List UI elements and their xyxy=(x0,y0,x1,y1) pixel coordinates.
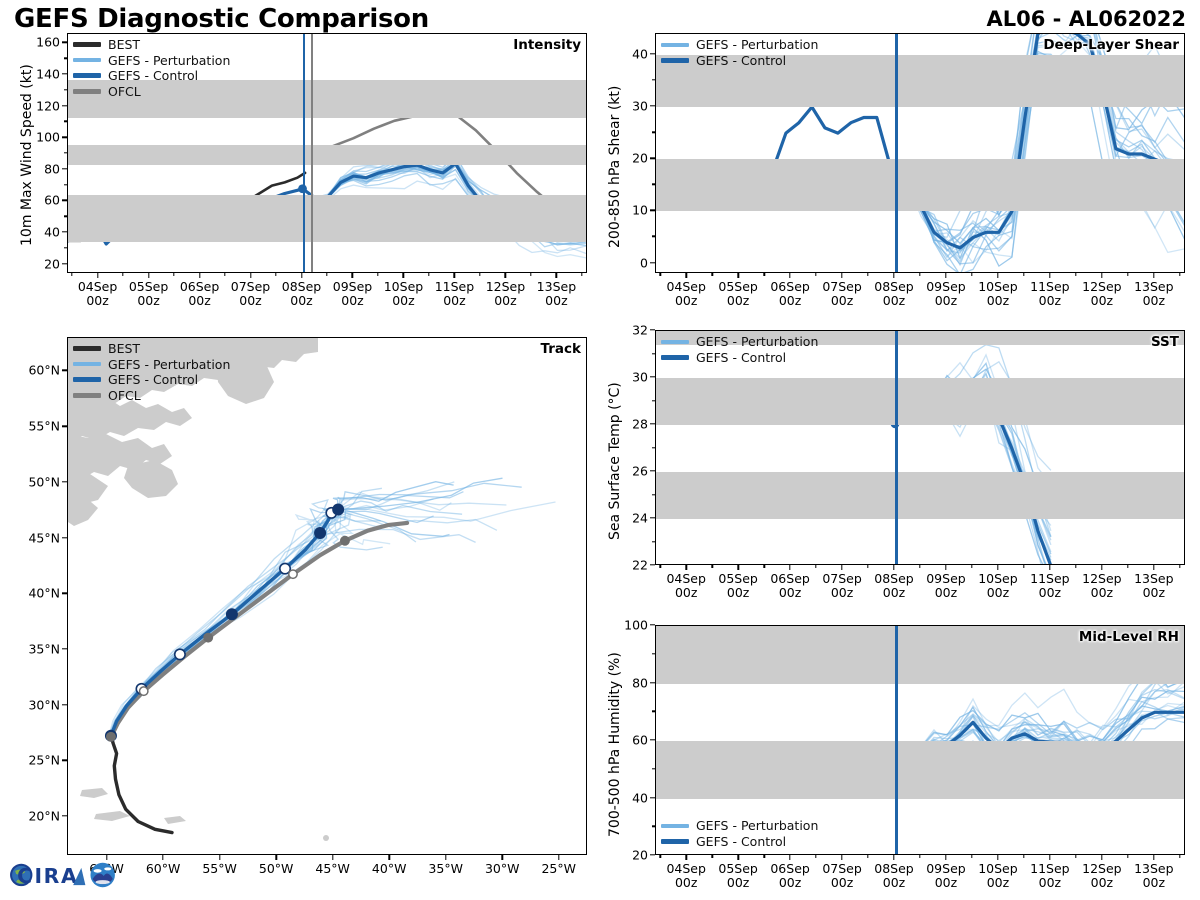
x-tick-hour: 00z xyxy=(137,293,159,308)
x-axis-minor-tick xyxy=(428,273,429,276)
legend-swatch-control xyxy=(661,58,689,63)
x-tick-date: 09Sep xyxy=(333,279,372,294)
x-tick-date: 10Sep xyxy=(978,279,1017,294)
legend-swatch-perturbation xyxy=(661,340,689,344)
track-plot-area xyxy=(67,337,587,855)
latitude-tick-mark xyxy=(62,648,67,649)
x-axis-tick-label: 06Sep00z xyxy=(180,280,219,309)
legend-item-best: BEST xyxy=(73,341,230,357)
x-tick-date: 12Sep xyxy=(1082,861,1121,876)
x-axis-minor-tick xyxy=(971,855,972,858)
x-axis-tick-mark xyxy=(250,273,251,278)
legend-swatch-control xyxy=(661,839,689,844)
x-axis-tick-label: 06Sep00z xyxy=(770,280,809,309)
sst-panel-label: SST xyxy=(1151,334,1179,350)
x-axis-minor-tick xyxy=(1075,565,1076,568)
longitude-tick-label: 50°W xyxy=(259,862,294,876)
x-tick-date: 05Sep xyxy=(718,279,757,294)
x-axis-tick-mark xyxy=(893,855,894,860)
y-axis-tick-mark xyxy=(650,329,655,330)
x-axis-tick-mark xyxy=(789,273,790,278)
longitude-tick-mark xyxy=(558,855,559,860)
x-axis-tick-label: 10Sep00z xyxy=(978,862,1017,891)
latitude-tick-mark xyxy=(62,760,67,761)
x-tick-date: 08Sep xyxy=(282,279,321,294)
x-axis-minor-tick xyxy=(815,273,816,276)
x-tick-date: 13Sep xyxy=(537,279,576,294)
x-tick-hour: 00z xyxy=(290,293,312,308)
cira-logo-icon: C I R A xyxy=(8,856,120,896)
y-axis-tick-label: 80 xyxy=(632,675,648,690)
page-title: GEFS Diagnostic Comparison xyxy=(14,4,429,34)
x-tick-date: 13Sep xyxy=(1134,279,1173,294)
x-axis-tick-mark xyxy=(1153,855,1154,860)
x-tick-hour: 00z xyxy=(1143,875,1165,890)
latitude-tick-mark xyxy=(62,704,67,705)
x-axis-tick-label: 10Sep00z xyxy=(384,280,423,309)
y-axis-tick-mark xyxy=(650,376,655,377)
x-axis-tick-mark xyxy=(1101,273,1102,278)
x-axis-tick-mark xyxy=(1049,855,1050,860)
y-axis-tick-label: 160 xyxy=(36,35,60,50)
intensity-y-axis-label: 10m Max Wind Speed (kt) xyxy=(19,64,35,246)
y-axis-tick-mark xyxy=(650,682,655,683)
x-tick-date: 07Sep xyxy=(822,279,861,294)
x-axis-tick-mark xyxy=(997,273,998,278)
legend-label-perturbation: GEFS - Perturbation xyxy=(696,818,818,833)
x-tick-hour: 00z xyxy=(935,875,957,890)
sst-plot-area xyxy=(655,330,1185,565)
legend-item-perturbation: GEFS - Perturbation xyxy=(661,334,818,350)
latitude-tick-mark xyxy=(62,593,67,594)
x-tick-hour: 00z xyxy=(727,585,749,600)
x-axis-minor-tick xyxy=(581,273,582,276)
shear-legend: GEFS - Perturbation GEFS - Control xyxy=(661,37,818,68)
legend-item-control: GEFS - Control xyxy=(661,53,818,69)
x-tick-hour: 00z xyxy=(392,293,414,308)
longitude-tick-label: 25°W xyxy=(541,862,576,876)
x-tick-date: 05Sep xyxy=(718,861,757,876)
x-tick-hour: 00z xyxy=(675,585,697,600)
x-tick-hour: 00z xyxy=(1039,293,1061,308)
y-axis-tick-mark xyxy=(650,517,655,518)
x-axis-tick-mark xyxy=(997,565,998,570)
legend-swatch-perturbation xyxy=(661,43,689,47)
y-axis-tick-label: 24 xyxy=(632,511,648,526)
x-axis-minor-tick xyxy=(275,273,276,276)
x-axis-minor-tick xyxy=(711,855,712,858)
shaded-band xyxy=(68,195,586,242)
x-axis-tick-mark xyxy=(685,273,686,278)
x-axis-minor-tick xyxy=(122,273,123,276)
x-axis-tick-label: 04Sep00z xyxy=(666,862,705,891)
x-axis-tick-label: 08Sep00z xyxy=(874,572,913,601)
intensity-panel-label: Intensity xyxy=(513,37,581,53)
x-axis-tick-label: 04Sep00z xyxy=(78,280,117,309)
x-axis-tick-mark xyxy=(556,273,557,278)
storm-identifier: AL06 - AL062022 xyxy=(987,7,1187,31)
y-axis-tick-mark xyxy=(62,42,67,43)
x-axis-tick-mark xyxy=(685,565,686,570)
latitude-tick-label: 50°N xyxy=(28,474,60,489)
x-axis-tick-mark xyxy=(737,855,738,860)
x-tick-hour: 00z xyxy=(545,293,567,308)
x-axis-tick-label: 11Sep00z xyxy=(1030,280,1069,309)
shaded-band xyxy=(656,472,1184,519)
shaded-band xyxy=(656,159,1184,211)
x-tick-hour: 00z xyxy=(883,875,905,890)
panel-intensity[interactable]: Intensity BEST GEFS - Perturbation GEFS … xyxy=(67,33,587,273)
x-axis-tick-mark xyxy=(737,565,738,570)
y-axis-minor-tick xyxy=(652,236,655,237)
longitude-tick-label: 60°W xyxy=(146,862,181,876)
x-tick-date: 11Sep xyxy=(1030,571,1069,586)
x-axis-minor-tick xyxy=(659,565,660,568)
y-axis-tick-mark xyxy=(650,210,655,211)
latitude-tick-label: 25°N xyxy=(28,753,60,768)
latitude-tick-mark xyxy=(62,481,67,482)
x-tick-hour: 00z xyxy=(1091,585,1113,600)
x-tick-date: 08Sep xyxy=(874,861,913,876)
x-axis-tick-label: 06Sep00z xyxy=(770,862,809,891)
x-axis-tick-label: 05Sep00z xyxy=(718,280,757,309)
figure-root: GEFS Diagnostic Comparison AL06 - AL0620… xyxy=(0,0,1200,900)
x-tick-hour: 00z xyxy=(883,585,905,600)
legend-label-perturbation: GEFS - Perturbation xyxy=(108,53,230,68)
x-axis-minor-tick xyxy=(919,565,920,568)
y-axis-minor-tick xyxy=(652,494,655,495)
x-tick-date: 05Sep xyxy=(129,279,168,294)
x-axis-tick-label: 05Sep00z xyxy=(718,572,757,601)
x-axis-tick-label: 12Sep00z xyxy=(1082,572,1121,601)
longitude-tick-label: 30°W xyxy=(485,862,520,876)
y-axis-minor-tick xyxy=(652,768,655,769)
y-axis-minor-tick xyxy=(652,711,655,712)
x-axis-tick-label: 07Sep00z xyxy=(231,280,270,309)
track-legend: BEST GEFS - Perturbation GEFS - Control … xyxy=(73,341,230,403)
x-axis-tick-mark xyxy=(841,565,842,570)
y-axis-minor-tick xyxy=(652,184,655,185)
svg-text:C: C xyxy=(17,864,32,888)
x-tick-date: 08Sep xyxy=(874,571,913,586)
x-tick-date: 12Sep xyxy=(1082,571,1121,586)
x-tick-date: 13Sep xyxy=(1134,571,1173,586)
x-axis-tick-label: 04Sep00z xyxy=(666,572,705,601)
x-axis-tick-mark xyxy=(893,565,894,570)
x-axis-tick-mark xyxy=(1101,855,1102,860)
x-tick-date: 06Sep xyxy=(770,861,809,876)
x-tick-date: 04Sep xyxy=(666,861,705,876)
x-axis-minor-tick xyxy=(1127,855,1128,858)
x-axis-tick-label: 13Sep00z xyxy=(1134,862,1173,891)
x-tick-date: 04Sep xyxy=(666,571,705,586)
shaded-band xyxy=(656,741,1184,799)
x-axis-minor-tick xyxy=(971,273,972,276)
x-axis-minor-tick xyxy=(763,273,764,276)
latitude-tick-label: 40°N xyxy=(28,586,60,601)
latitude-tick-label: 35°N xyxy=(28,641,60,656)
y-axis-tick-mark xyxy=(650,797,655,798)
legend-swatch-control xyxy=(661,355,689,360)
x-axis-minor-tick xyxy=(815,855,816,858)
shear-plot-area xyxy=(655,33,1185,273)
x-tick-hour: 00z xyxy=(987,585,1009,600)
x-axis-minor-tick xyxy=(711,565,712,568)
legend-label-control: GEFS - Control xyxy=(696,53,786,68)
x-tick-hour: 00z xyxy=(239,293,261,308)
y-axis-tick-mark xyxy=(62,168,67,169)
legend-item-perturbation: GEFS - Perturbation xyxy=(661,37,818,53)
panel-sst[interactable]: SST GEFS - Perturbation GEFS - Control 2… xyxy=(655,330,1185,565)
x-tick-date: 04Sep xyxy=(666,279,705,294)
x-axis-tick-mark xyxy=(1049,565,1050,570)
x-axis-tick-label: 13Sep00z xyxy=(1134,280,1173,309)
x-axis-tick-label: 10Sep00z xyxy=(978,280,1017,309)
longitude-tick-mark xyxy=(445,855,446,860)
y-axis-minor-tick xyxy=(652,826,655,827)
x-axis-tick-label: 11Sep00z xyxy=(435,280,474,309)
x-axis-tick-label: 08Sep00z xyxy=(282,280,321,309)
x-axis-minor-tick xyxy=(867,273,868,276)
x-axis-tick-mark xyxy=(148,273,149,278)
legend-item-perturbation: GEFS - Perturbation xyxy=(661,818,818,834)
x-axis-minor-tick xyxy=(1023,273,1024,276)
latitude-tick-label: 60°N xyxy=(28,363,60,378)
y-axis-tick-mark xyxy=(62,105,67,106)
x-axis-minor-tick xyxy=(971,565,972,568)
x-axis-tick-label: 07Sep00z xyxy=(822,862,861,891)
sst-series-lines xyxy=(656,331,1185,565)
x-tick-hour: 00z xyxy=(779,293,801,308)
sst-y-axis-label: Sea Surface Temp (°C) xyxy=(607,382,623,540)
x-axis-tick-label: 05Sep00z xyxy=(718,862,757,891)
x-tick-date: 04Sep xyxy=(78,279,117,294)
x-axis-minor-tick xyxy=(1179,855,1180,858)
legend-label-ofcl: OFCL xyxy=(108,84,141,99)
x-tick-date: 09Sep xyxy=(926,571,965,586)
x-tick-date: 11Sep xyxy=(435,279,474,294)
x-tick-hour: 00z xyxy=(831,293,853,308)
x-axis-tick-label: 13Sep00z xyxy=(1134,572,1173,601)
x-tick-date: 10Sep xyxy=(978,861,1017,876)
x-tick-hour: 00z xyxy=(727,875,749,890)
x-axis-tick-label: 12Sep00z xyxy=(1082,280,1121,309)
x-tick-hour: 00z xyxy=(494,293,516,308)
x-axis-minor-tick xyxy=(530,273,531,276)
x-axis-tick-mark xyxy=(841,273,842,278)
x-axis-tick-label: 11Sep00z xyxy=(1030,572,1069,601)
legend-item-perturbation: GEFS - Perturbation xyxy=(73,53,230,69)
legend-swatch-best xyxy=(73,346,101,351)
intensity-init-time-line xyxy=(303,34,306,272)
x-tick-hour: 00z xyxy=(188,293,210,308)
x-tick-hour: 00z xyxy=(86,293,108,308)
y-axis-tick-mark xyxy=(650,105,655,106)
x-tick-hour: 00z xyxy=(1091,875,1113,890)
legend-swatch-control xyxy=(73,73,101,78)
x-axis-tick-label: 09Sep00z xyxy=(926,572,965,601)
x-axis-tick-mark xyxy=(945,565,946,570)
x-tick-date: 05Sep xyxy=(718,571,757,586)
x-axis-tick-label: 11Sep00z xyxy=(1030,862,1069,891)
legend-item-control: GEFS - Control xyxy=(661,834,818,850)
x-tick-hour: 00z xyxy=(987,293,1009,308)
legend-item-control: GEFS - Control xyxy=(661,350,818,366)
legend-label-control: GEFS - Control xyxy=(696,350,786,365)
x-axis-tick-label: 13Sep00z xyxy=(537,280,576,309)
latitude-tick-mark xyxy=(62,815,67,816)
y-axis-tick-mark xyxy=(62,231,67,232)
x-axis-tick-mark xyxy=(841,855,842,860)
y-axis-tick-mark xyxy=(62,137,67,138)
y-axis-tick-label: 20 xyxy=(632,848,648,863)
legend-label-control: GEFS - Control xyxy=(108,372,198,387)
svg-text:I: I xyxy=(34,864,42,888)
x-axis-tick-label: 06Sep00z xyxy=(770,572,809,601)
legend-label-best: BEST xyxy=(108,341,140,356)
x-axis-minor-tick xyxy=(1023,855,1024,858)
x-axis-minor-tick xyxy=(71,273,72,276)
x-axis-minor-tick xyxy=(1023,565,1024,568)
y-axis-tick-mark xyxy=(650,624,655,625)
x-tick-date: 09Sep xyxy=(926,279,965,294)
x-tick-date: 10Sep xyxy=(384,279,423,294)
legend-swatch-best xyxy=(73,42,101,47)
y-axis-tick-mark xyxy=(650,158,655,159)
latitude-tick-label: 30°N xyxy=(28,697,60,712)
longitude-tick-mark xyxy=(275,855,276,860)
y-axis-tick-label: 0 xyxy=(640,255,648,270)
track-basemap xyxy=(68,338,587,855)
x-tick-hour: 00z xyxy=(675,293,697,308)
legend-label-perturbation: GEFS - Perturbation xyxy=(108,357,230,372)
legend-label-control: GEFS - Control xyxy=(108,68,198,83)
y-axis-tick-label: 30 xyxy=(632,99,648,114)
intensity-ofcl-init-line xyxy=(311,34,313,272)
sst-init-time-line xyxy=(895,331,898,564)
legend-item-control: GEFS - Control xyxy=(73,372,230,388)
y-axis-minor-tick xyxy=(652,447,655,448)
x-axis-minor-tick xyxy=(1179,273,1180,276)
x-tick-hour: 00z xyxy=(1039,585,1061,600)
shear-panel-label: Deep-Layer Shear xyxy=(1043,37,1179,53)
panel-shear[interactable]: Deep-Layer Shear GEFS - Perturbation GEF… xyxy=(655,33,1185,273)
legend-swatch-perturbation xyxy=(73,58,101,62)
longitude-tick-mark xyxy=(219,855,220,860)
x-tick-hour: 00z xyxy=(1039,875,1061,890)
x-tick-date: 10Sep xyxy=(978,571,1017,586)
latitude-tick-mark xyxy=(62,425,67,426)
legend-item-control: GEFS - Control xyxy=(73,68,230,84)
x-axis-tick-mark xyxy=(1101,565,1102,570)
y-axis-tick-label: 20 xyxy=(632,151,648,166)
panel-rh[interactable]: Mid-Level RH GEFS - Perturbation GEFS - … xyxy=(655,625,1185,855)
x-tick-date: 06Sep xyxy=(180,279,219,294)
x-tick-date: 11Sep xyxy=(1030,861,1069,876)
y-axis-tick-label: 28 xyxy=(632,417,648,432)
x-axis-minor-tick xyxy=(1127,565,1128,568)
y-axis-tick-mark xyxy=(650,262,655,263)
longitude-tick-mark xyxy=(388,855,389,860)
y-axis-tick-label: 100 xyxy=(624,618,648,633)
longitude-tick-label: 45°W xyxy=(315,862,350,876)
x-tick-hour: 00z xyxy=(341,293,363,308)
x-axis-tick-label: 07Sep00z xyxy=(822,280,861,309)
y-axis-tick-mark xyxy=(62,73,67,74)
latitude-tick-label: 20°N xyxy=(28,809,60,824)
y-axis-tick-label: 10 xyxy=(632,203,648,218)
y-axis-tick-label: 30 xyxy=(632,370,648,385)
x-axis-minor-tick xyxy=(173,273,174,276)
x-axis-minor-tick xyxy=(326,273,327,276)
x-tick-hour: 00z xyxy=(1091,293,1113,308)
latitude-tick-mark xyxy=(62,370,67,371)
x-axis-minor-tick xyxy=(1179,565,1180,568)
x-axis-minor-tick xyxy=(815,565,816,568)
legend-label-perturbation: GEFS - Perturbation xyxy=(696,334,818,349)
y-axis-tick-mark xyxy=(650,53,655,54)
x-axis-minor-tick xyxy=(377,273,378,276)
x-axis-minor-tick xyxy=(711,273,712,276)
rh-init-time-line xyxy=(895,626,898,854)
legend-swatch-ofcl xyxy=(73,89,101,94)
y-axis-tick-mark xyxy=(62,263,67,264)
y-axis-minor-tick xyxy=(652,541,655,542)
rh-y-axis-label: 700-500 hPa Humidity (%) xyxy=(607,652,623,837)
x-axis-minor-tick xyxy=(1075,855,1076,858)
y-axis-tick-label: 80 xyxy=(44,161,60,176)
legend-swatch-perturbation xyxy=(661,824,689,828)
x-axis-tick-mark xyxy=(199,273,200,278)
x-tick-date: 12Sep xyxy=(1082,279,1121,294)
y-axis-tick-label: 60 xyxy=(632,733,648,748)
x-tick-hour: 00z xyxy=(1143,585,1165,600)
rh-legend: GEFS - Perturbation GEFS - Control xyxy=(661,818,818,849)
y-axis-minor-tick xyxy=(64,89,67,90)
cira-logo: C I R A xyxy=(8,856,120,896)
x-axis-tick-label: 08Sep00z xyxy=(874,862,913,891)
y-axis-tick-label: 120 xyxy=(36,98,60,113)
x-tick-date: 07Sep xyxy=(231,279,270,294)
x-tick-hour: 00z xyxy=(831,585,853,600)
x-tick-date: 12Sep xyxy=(486,279,525,294)
x-axis-tick-label: 12Sep00z xyxy=(486,280,525,309)
panel-track[interactable]: Track BEST GEFS - Perturbation GEFS - Co… xyxy=(67,337,587,855)
legend-item-ofcl: OFCL xyxy=(73,84,230,100)
y-axis-minor-tick xyxy=(64,184,67,185)
x-axis-tick-label: 04Sep00z xyxy=(666,280,705,309)
x-tick-date: 07Sep xyxy=(822,571,861,586)
x-tick-hour: 00z xyxy=(779,585,801,600)
x-axis-tick-mark xyxy=(97,273,98,278)
y-axis-tick-mark xyxy=(650,564,655,565)
x-axis-tick-label: 05Sep00z xyxy=(129,280,168,309)
rh-panel-label: Mid-Level RH xyxy=(1079,629,1179,645)
x-axis-tick-label: 09Sep00z xyxy=(926,280,965,309)
legend-label-ofcl: OFCL xyxy=(108,388,141,403)
x-axis-tick-mark xyxy=(945,273,946,278)
shaded-band xyxy=(656,378,1184,425)
x-tick-hour: 00z xyxy=(1143,293,1165,308)
x-axis-tick-label: 09Sep00z xyxy=(333,280,372,309)
y-axis-minor-tick xyxy=(64,215,67,216)
legend-item-ofcl: OFCL xyxy=(73,388,230,404)
legend-label-control: GEFS - Control xyxy=(696,834,786,849)
legend-swatch-perturbation xyxy=(73,362,101,366)
longitude-tick-label: 40°W xyxy=(372,862,407,876)
x-axis-minor-tick xyxy=(919,273,920,276)
x-tick-hour: 00z xyxy=(831,875,853,890)
